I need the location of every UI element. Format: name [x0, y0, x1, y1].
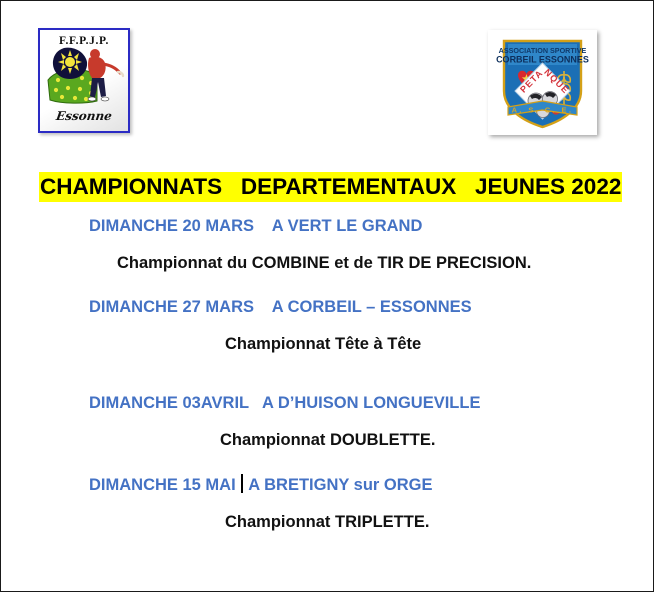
- event-heading-4-venue: A BRETIGNY sur ORGE: [244, 476, 432, 494]
- ffpjp-essonne-logo: F.F.P.J.P.: [38, 28, 130, 133]
- document-page: F.F.P.J.P.: [0, 0, 654, 592]
- event-description-2: Championnat Tête à Tête: [225, 333, 421, 355]
- event-heading-1: DIMANCHE 20 MARS A VERT LE GRAND: [89, 215, 422, 237]
- asce-petanque-badge: ASSOCIATION SPORTIVE CORBEIL ESSONNES: [488, 30, 597, 135]
- event-heading-3: DIMANCHE 03AVRIL A D’HUISON LONGUEVILLE: [89, 392, 480, 414]
- event-description-1: Championnat du COMBINE et de TIR DE PREC…: [117, 252, 531, 274]
- event-heading-2: DIMANCHE 27 MARS A CORBEIL – ESSONNES: [89, 296, 472, 318]
- ffpjp-essonne-signature: Essonne: [39, 109, 129, 123]
- asce-shield-illustration: ASSOCIATION SPORTIVE CORBEIL ESSONNES: [492, 33, 593, 132]
- event-description-3: Championnat DOUBLETTE.: [220, 429, 435, 451]
- text-cursor-caret: [241, 474, 243, 493]
- event-heading-4-date: DIMANCHE 15 MAI: [89, 476, 240, 494]
- ffpjp-players-illustration: [40, 46, 128, 108]
- event-description-4: Championnat TRIPLETTE.: [225, 511, 429, 533]
- page-title: CHAMPIONNATS DEPARTEMENTAUX JEUNES 2022: [39, 172, 622, 202]
- asce-banner-text: A. S. C. E.: [512, 106, 574, 115]
- event-heading-4: DIMANCHE 15 MAI A BRETIGNY sur ORGE: [89, 474, 433, 496]
